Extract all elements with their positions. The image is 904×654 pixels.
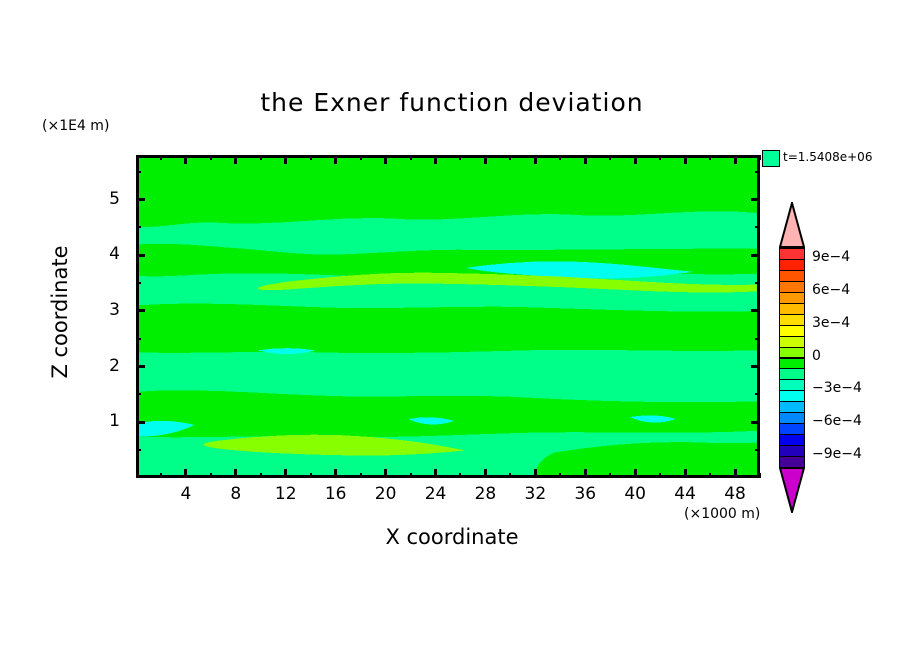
x-tick-minor — [659, 155, 661, 160]
y-tick-label: 1 — [96, 411, 120, 431]
y-tick-major — [136, 421, 145, 424]
x-tick-label: 44 — [665, 484, 705, 504]
x-tick-major — [284, 469, 287, 478]
x-tick-minor — [210, 155, 212, 160]
time-color-swatch — [762, 150, 780, 167]
x-tick-minor — [160, 155, 162, 160]
contour-plot-area — [136, 155, 760, 478]
page-title: the Exner function deviation — [0, 88, 904, 117]
colorbar-tick-label: −6e−4 — [812, 413, 862, 429]
x-tick-label: 4 — [166, 484, 206, 504]
y-tick-minor — [136, 171, 141, 173]
colorbar-tick-label: 6e−4 — [812, 282, 850, 298]
x-tick-major — [334, 469, 337, 478]
x-tick-major — [634, 469, 637, 478]
x-tick-label: 8 — [216, 484, 256, 504]
y-tick-minor — [136, 282, 141, 284]
y-tick-major — [751, 198, 760, 201]
colorbar-tick-label: 3e−4 — [812, 315, 850, 331]
y-tick-major — [751, 309, 760, 312]
x-tick-major — [584, 155, 587, 164]
x-tick-major — [184, 155, 187, 164]
x-tick-major — [684, 469, 687, 478]
x-tick-minor — [459, 473, 461, 478]
y-tick-major — [136, 365, 145, 368]
x-tick-label: 36 — [565, 484, 605, 504]
contour-field — [139, 158, 757, 475]
x-tick-major — [734, 155, 737, 164]
x-tick-minor — [659, 473, 661, 478]
x-tick-label: 48 — [715, 484, 755, 504]
y-tick-major — [136, 198, 145, 201]
x-tick-label: 40 — [615, 484, 655, 504]
x-tick-label: 28 — [465, 484, 505, 504]
x-tick-label: 12 — [266, 484, 306, 504]
y-tick-major — [136, 254, 145, 257]
y-tick-minor — [136, 226, 141, 228]
y-axis-unit-label: (×1E4 m) — [42, 118, 109, 134]
x-tick-major — [684, 155, 687, 164]
x-tick-minor — [509, 473, 511, 478]
x-tick-minor — [210, 473, 212, 478]
x-tick-minor — [759, 155, 761, 160]
x-axis-unit-label: (×1000 m) — [684, 506, 760, 522]
x-tick-minor — [609, 473, 611, 478]
colorbar-tick-label: 0 — [812, 348, 821, 364]
y-tick-minor — [755, 282, 760, 284]
x-tick-major — [534, 155, 537, 164]
y-tick-major — [751, 365, 760, 368]
x-tick-minor — [559, 155, 561, 160]
x-tick-label: 20 — [366, 484, 406, 504]
x-tick-major — [284, 155, 287, 164]
x-tick-minor — [160, 473, 162, 478]
x-tick-minor — [459, 155, 461, 160]
x-tick-minor — [559, 473, 561, 478]
x-tick-major — [184, 469, 187, 478]
y-tick-label: 4 — [96, 244, 120, 264]
x-tick-major — [384, 155, 387, 164]
x-tick-major — [484, 155, 487, 164]
x-tick-label: 16 — [316, 484, 356, 504]
x-tick-major — [384, 469, 387, 478]
x-tick-major — [734, 469, 737, 478]
x-tick-minor — [360, 473, 362, 478]
x-tick-major — [534, 469, 537, 478]
x-tick-major — [234, 155, 237, 164]
x-tick-minor — [260, 155, 262, 160]
x-tick-minor — [609, 155, 611, 160]
y-tick-minor — [755, 226, 760, 228]
x-tick-minor — [310, 155, 312, 160]
x-tick-minor — [360, 155, 362, 160]
x-tick-major — [234, 469, 237, 478]
y-tick-minor — [755, 338, 760, 340]
time-annotation: t=1.5408e+06 — [783, 150, 872, 164]
x-tick-label: 24 — [416, 484, 456, 504]
x-tick-minor — [310, 473, 312, 478]
x-tick-minor — [410, 155, 412, 160]
y-axis-title: Z coordinate — [48, 222, 72, 402]
x-tick-minor — [410, 473, 412, 478]
x-tick-minor — [509, 155, 511, 160]
colorbar-bottom-arrow-icon — [779, 467, 805, 513]
y-tick-minor — [136, 393, 141, 395]
y-tick-minor — [755, 393, 760, 395]
x-tick-minor — [709, 155, 711, 160]
x-tick-major — [434, 155, 437, 164]
y-tick-minor — [755, 449, 760, 451]
x-axis-title: X coordinate — [0, 525, 904, 549]
y-tick-major — [751, 421, 760, 424]
x-tick-major — [634, 155, 637, 164]
y-tick-minor — [755, 171, 760, 173]
colorbar-tick-label: −9e−4 — [812, 446, 862, 462]
y-tick-major — [751, 254, 760, 257]
y-tick-minor — [136, 338, 141, 340]
x-tick-major — [434, 469, 437, 478]
x-tick-minor — [709, 473, 711, 478]
y-tick-label: 5 — [96, 189, 120, 209]
x-tick-minor — [759, 473, 761, 478]
x-tick-minor — [260, 473, 262, 478]
y-tick-minor — [136, 449, 141, 451]
x-tick-major — [584, 469, 587, 478]
y-tick-label: 3 — [96, 300, 120, 320]
colorbar-tick-label: 9e−4 — [812, 249, 850, 265]
colorbar-tick-label: −3e−4 — [812, 380, 862, 396]
x-tick-major — [484, 469, 487, 478]
y-tick-label: 2 — [96, 356, 120, 376]
x-tick-major — [334, 155, 337, 164]
y-tick-major — [136, 309, 145, 312]
x-tick-label: 32 — [515, 484, 555, 504]
colorbar[interactable] — [779, 248, 805, 467]
colorbar-top-arrow-icon — [779, 202, 805, 248]
